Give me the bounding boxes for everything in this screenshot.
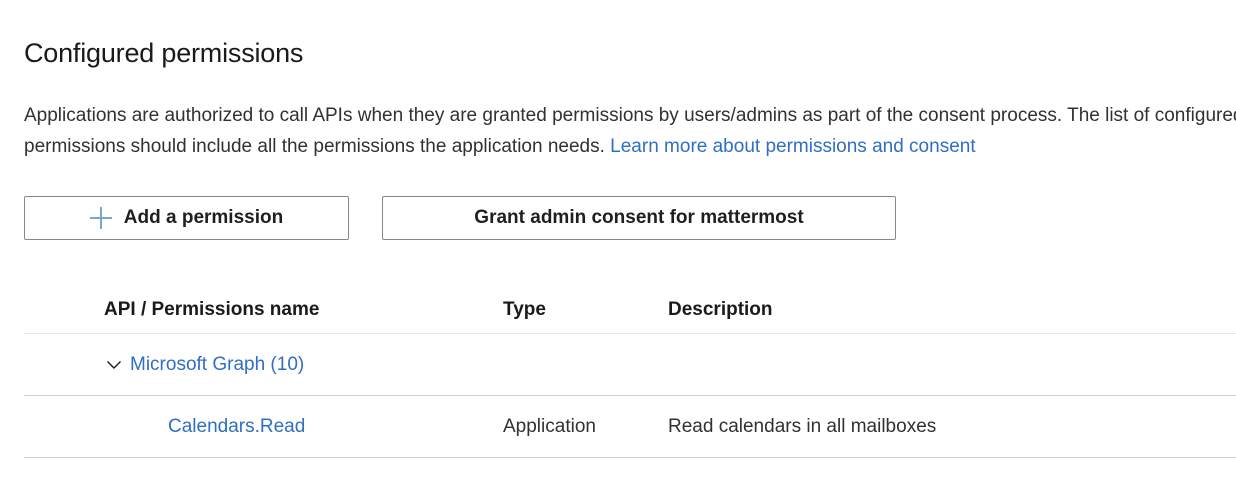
permission-description-cell: Read calendars in all mailboxes [668, 416, 1236, 438]
permission-name-link[interactable]: Calendars.Read [168, 416, 305, 437]
section-description: Applications are authorized to call APIs… [24, 100, 1236, 162]
table-group-row[interactable]: Microsoft Graph (10) [24, 334, 1236, 396]
chevron-down-icon[interactable] [104, 355, 124, 375]
column-header-name: API / Permissions name [24, 299, 503, 321]
table-row[interactable]: Calendars.Read Application Read calendar… [24, 396, 1236, 458]
group-name-link[interactable]: Microsoft Graph (10) [130, 354, 304, 376]
configured-permissions-blade: Configured permissions Applications are … [0, 0, 1236, 482]
permission-type-cell: Application [503, 416, 668, 438]
page-title: Configured permissions [24, 36, 303, 70]
permissions-table: API / Permissions name Type Description … [24, 286, 1236, 458]
column-header-type: Type [503, 299, 668, 321]
table-header-row: API / Permissions name Type Description [24, 286, 1236, 334]
grant-admin-consent-button[interactable]: Grant admin consent for mattermost [382, 196, 896, 240]
add-permission-label: Add a permission [124, 207, 283, 229]
grant-admin-consent-label: Grant admin consent for mattermost [474, 207, 803, 229]
plus-icon [90, 207, 112, 229]
permission-name-cell: Calendars.Read [24, 416, 503, 438]
command-bar: Add a permission Grant admin consent for… [24, 196, 896, 240]
learn-more-link[interactable]: Learn more about permissions and consent [610, 136, 975, 157]
add-permission-button[interactable]: Add a permission [24, 196, 349, 240]
group-name-cell: Microsoft Graph (10) [24, 354, 503, 376]
column-header-description: Description [668, 299, 1236, 321]
